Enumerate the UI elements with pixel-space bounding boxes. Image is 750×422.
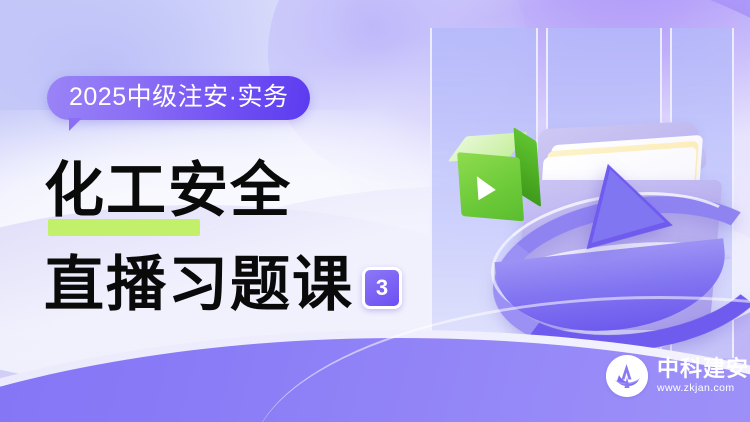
title-line-1: 化工安全 <box>44 155 474 227</box>
brand-name: 中科建安 <box>657 358 749 380</box>
brand-url: www.zkjan.com <box>657 383 749 394</box>
title-line-1-row: 化工安全 <box>44 155 474 227</box>
course-category-badge: 2025中级注安·实务 <box>47 76 310 120</box>
course-cover-poster: 2025中级注安·实务 化工安全 直播习题课 3 中科建安 www.zkjan.… <box>0 0 750 422</box>
title-line-2: 直播习题课 <box>44 249 354 321</box>
play-triangle-icon <box>477 176 497 202</box>
episode-number-badge: 3 <box>362 267 402 309</box>
badge-tail <box>69 118 82 131</box>
course-category-label: 2025中级注安·实务 <box>69 83 288 111</box>
zkjan-circle-logo-icon <box>606 355 648 397</box>
brand-text: 中科建安 www.zkjan.com <box>657 358 749 394</box>
brand-logo: 中科建安 www.zkjan.com <box>606 355 749 397</box>
page-title: 化工安全 直播习题课 3 <box>44 155 474 321</box>
title-line-2-row: 直播习题课 3 <box>44 249 474 321</box>
